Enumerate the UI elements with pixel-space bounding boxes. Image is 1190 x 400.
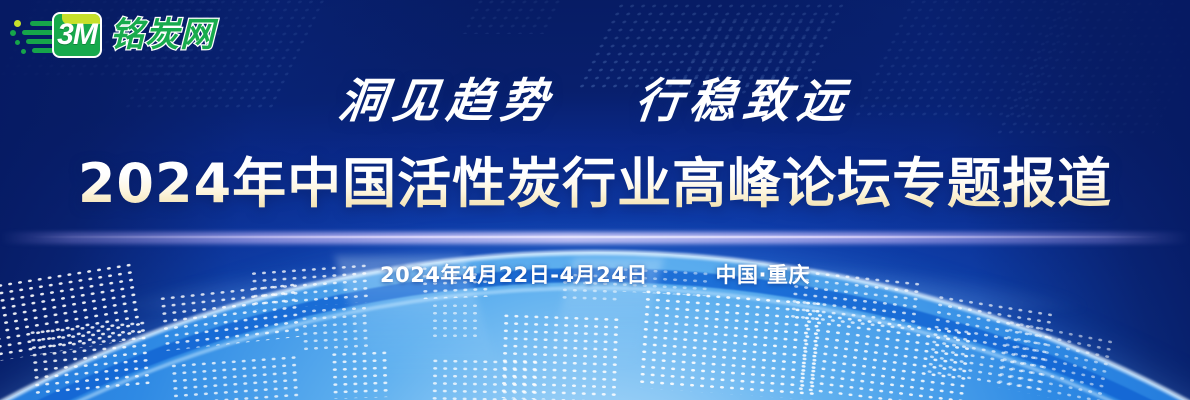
event-location: 中国·重庆 xyxy=(715,263,809,287)
calligraphy-phrase-1: 洞见趋势 xyxy=(335,74,558,129)
event-date: 2024年4月22日-4月24日 xyxy=(380,263,648,287)
speed-lines-icon xyxy=(10,14,56,56)
site-logo[interactable]: 3M 铭炭网 xyxy=(10,6,215,64)
logo-brand-text: 铭炭网 xyxy=(110,18,215,52)
conference-banner: 3M 铭炭网 洞见趋势 行稳致远 2024年中国活性炭行业高峰论坛专题报道 20… xyxy=(0,0,1190,400)
logo-mark-text: 3M xyxy=(57,20,97,50)
calligraphy-phrase-2: 行稳致远 xyxy=(632,74,855,129)
page-title: 2024年中国活性炭行业高峰论坛专题报道 xyxy=(0,154,1190,214)
logo-mark-badge: 3M xyxy=(52,12,102,58)
calligraphy-tagline: 洞见趋势 行稳致远 xyxy=(0,78,1190,125)
event-details: 2024年4月22日-4月24日 中国·重庆 xyxy=(0,259,1190,289)
